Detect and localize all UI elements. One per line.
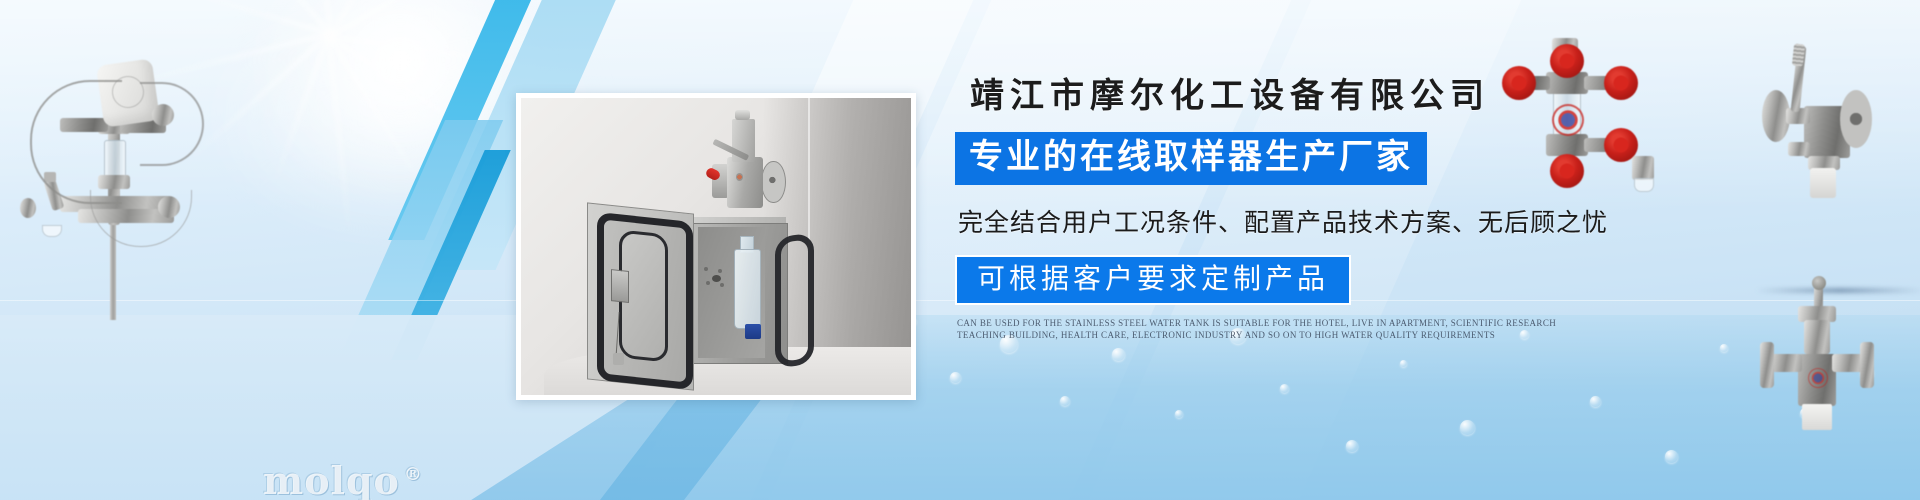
blue-cap <box>745 324 761 339</box>
watermark-text: molqo <box>263 458 400 500</box>
flange-right <box>1860 342 1874 388</box>
flange <box>152 104 174 126</box>
stem-ball <box>1812 276 1826 290</box>
flange-left <box>1760 342 1774 388</box>
company-name: 靖江市摩尔化工设备有限公司 <box>970 78 1755 115</box>
marketing-copy: 靖江市摩尔化工设备有限公司 专业的在线取样器生产厂家 完全结合用户工况条件、配置… <box>955 78 1755 342</box>
door-lock <box>611 269 629 303</box>
handwheel-top <box>1550 44 1584 78</box>
outlet-nozzle <box>1802 404 1832 430</box>
brand-watermark: molqo® <box>263 458 423 500</box>
valve-body <box>727 157 763 208</box>
headline-highlight: 专业的在线取样器生产厂家 <box>955 132 1427 185</box>
valve-knob <box>735 110 750 120</box>
flange <box>20 198 36 218</box>
mounting-holes <box>704 267 727 291</box>
sample-bottle <box>42 225 62 237</box>
registered-mark-icon: ® <box>404 464 423 485</box>
flange-right <box>1840 90 1872 148</box>
horizon-blur <box>1756 288 1920 293</box>
tubing-loop <box>140 82 204 166</box>
flanged-valve-render <box>1756 258 1920 448</box>
valve-seal-logo-icon <box>1808 368 1828 388</box>
sampling-valve-assembly <box>708 110 794 223</box>
main-product-photo[interactable] <box>516 93 916 400</box>
key <box>613 353 625 365</box>
sample-bottle <box>734 249 761 328</box>
cta-badge[interactable]: 可根据客户要求定制产品 <box>955 255 1351 305</box>
flange <box>158 196 180 218</box>
cabinet-side-gasket <box>775 232 814 368</box>
promo-banner: 靖江市摩尔化工设备有限公司 专业的在线取样器生产厂家 完全结合用户工况条件、配置… <box>0 0 1920 500</box>
english-description: CAN BE USED FOR THE STAINLESS STEEL WATE… <box>957 317 1577 342</box>
photo-content <box>521 98 911 395</box>
valve-flange-right <box>761 161 785 204</box>
lever-valve-render <box>1752 28 1920 208</box>
lever-knurl <box>1792 43 1805 66</box>
outlet-nozzle <box>1810 168 1836 198</box>
bonnet <box>1804 320 1830 354</box>
sub-headline: 完全结合用户工况条件、配置产品技术方案、无后顾之忧 <box>958 203 1755 239</box>
left-sampler-render <box>0 20 220 320</box>
adjuster <box>1788 142 1810 156</box>
